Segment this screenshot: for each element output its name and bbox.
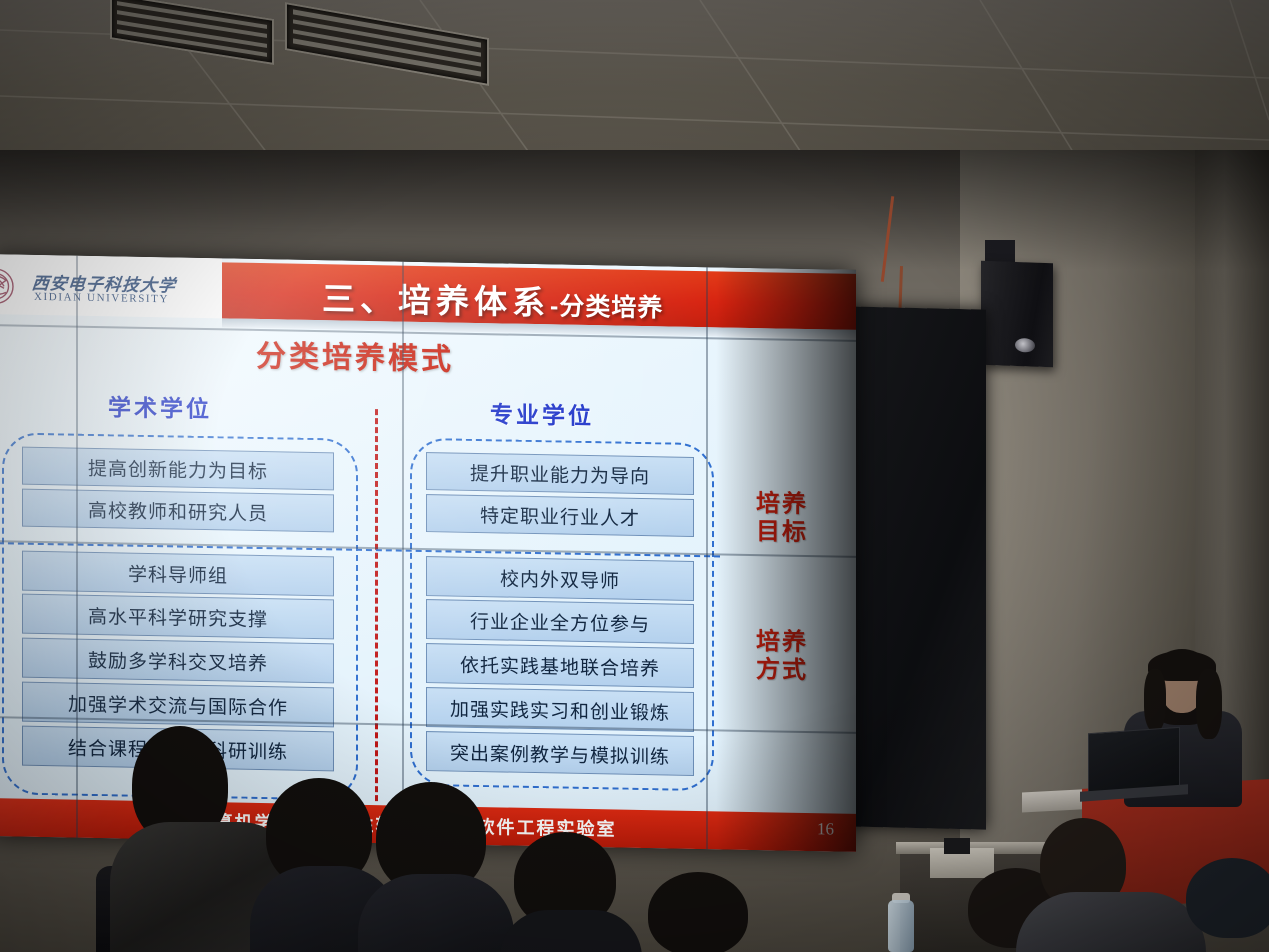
column-header-academic: 学术学位 — [108, 388, 212, 424]
audience-member — [500, 832, 642, 952]
slide-title-main: 培养体系 — [398, 282, 550, 322]
audience-member — [1186, 858, 1269, 952]
university-name-en: XIDIAN UNIVERSITY — [34, 291, 169, 305]
wall-speaker-icon — [981, 261, 1053, 368]
panel-seam — [76, 256, 78, 838]
screen-edge-shadow — [716, 267, 856, 852]
list-item: 行业企业全方位参与 — [426, 599, 694, 644]
slide-title: 三、培养体系-分类培养 — [322, 272, 663, 326]
list-item: 特定职业行业人才 — [426, 494, 694, 537]
list-item: 校内外双导师 — [426, 556, 694, 601]
list-item: 依托实践基地联合培养 — [426, 643, 694, 688]
audience-head — [1186, 858, 1269, 938]
water-bottle — [888, 900, 914, 952]
audience-shoulders — [500, 910, 642, 952]
audience-member — [358, 782, 514, 952]
list-item: 鼓励多学科交叉培养 — [22, 638, 334, 684]
list-item: 提升职业能力为导向 — [426, 452, 694, 495]
audience-shoulders — [1016, 892, 1206, 952]
row-label-goal-line2: 目标 — [724, 517, 840, 547]
speaker-cone — [1015, 338, 1035, 353]
lecture-hall-photo: 西安电子科技大学 XIDIAN UNIVERSITY 三、培养体系-分类培养 分… — [0, 0, 1269, 952]
slide-title-suffix: -分类培养 — [550, 292, 663, 322]
row-label-method: 培养 方式 — [724, 628, 840, 685]
xidian-seal-icon — [0, 262, 26, 311]
list-item: 学科导师组 — [22, 551, 334, 597]
list-item: 高水平科学研究支撑 — [22, 594, 334, 640]
row-label-goal-line1: 培养 — [724, 490, 840, 520]
panel-seam — [706, 267, 708, 849]
audience-member — [636, 872, 770, 952]
slide-logo-zone: 西安电子科技大学 XIDIAN UNIVERSITY — [0, 254, 222, 318]
column-header-professional: 专业学位 — [490, 395, 594, 431]
vertical-divider — [375, 409, 378, 801]
row-label-method-line1: 培养 — [724, 628, 840, 658]
list-item: 提高创新能力为目标 — [22, 447, 334, 491]
slide-title-number: 三、 — [322, 280, 398, 318]
wall-shadow — [0, 150, 1269, 270]
audience-member — [1016, 818, 1206, 952]
row-label-goal: 培养 目标 — [724, 490, 840, 547]
audience-head — [648, 872, 748, 952]
list-item: 高校教师和研究人员 — [22, 489, 334, 533]
equipment-device — [944, 838, 970, 854]
panel-seam — [402, 262, 404, 844]
list-item: 突出案例教学与模拟训练 — [426, 731, 694, 776]
row-label-method-line2: 方式 — [724, 655, 840, 685]
presenter-hair-left — [1144, 669, 1166, 731]
presenter-hair-right — [1196, 669, 1222, 739]
page-number: 16 — [817, 819, 834, 839]
audience-shoulders — [358, 874, 514, 952]
display-side-panel — [846, 306, 986, 829]
